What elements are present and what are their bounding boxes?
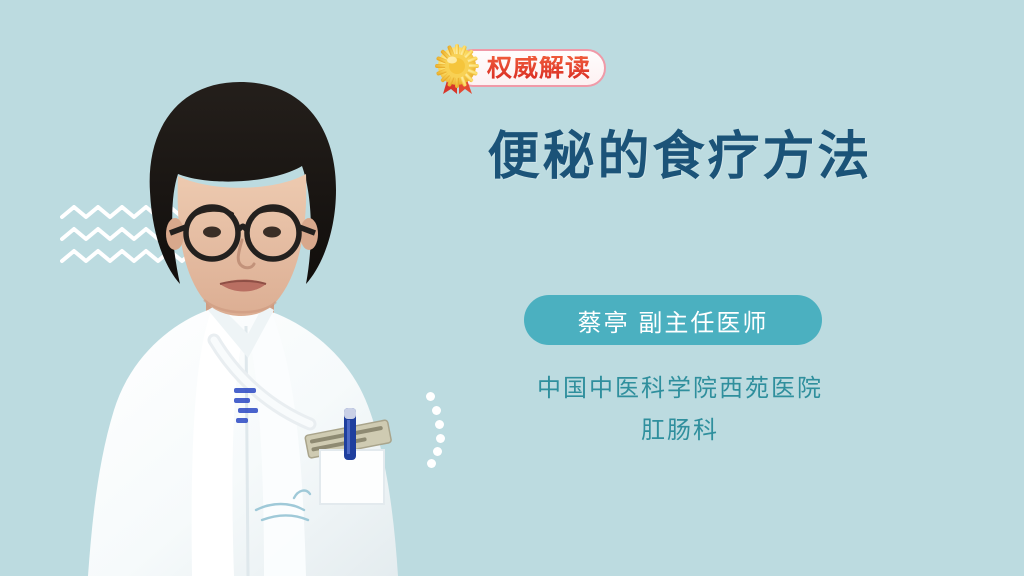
affiliation-department: 肛肠科: [455, 410, 905, 452]
speaker-affiliation: 中国中医科学院西苑医院 肛肠科: [455, 368, 905, 452]
authority-badge: 权威解读: [432, 44, 612, 96]
affiliation-hospital: 中国中医科学院西苑医院: [455, 368, 905, 410]
page-title: 便秘的食疗方法: [455, 128, 905, 188]
authority-badge-label: 权威解读: [487, 56, 591, 81]
speaker-name-badge: 蔡亭 副主任医师: [524, 295, 822, 345]
award-medal-icon: [432, 44, 488, 96]
speaker-name-label: 蔡亭 副主任医师: [578, 303, 769, 338]
doctor-portrait: [58, 58, 458, 576]
slide-canvas: 权威解读: [0, 0, 1024, 576]
